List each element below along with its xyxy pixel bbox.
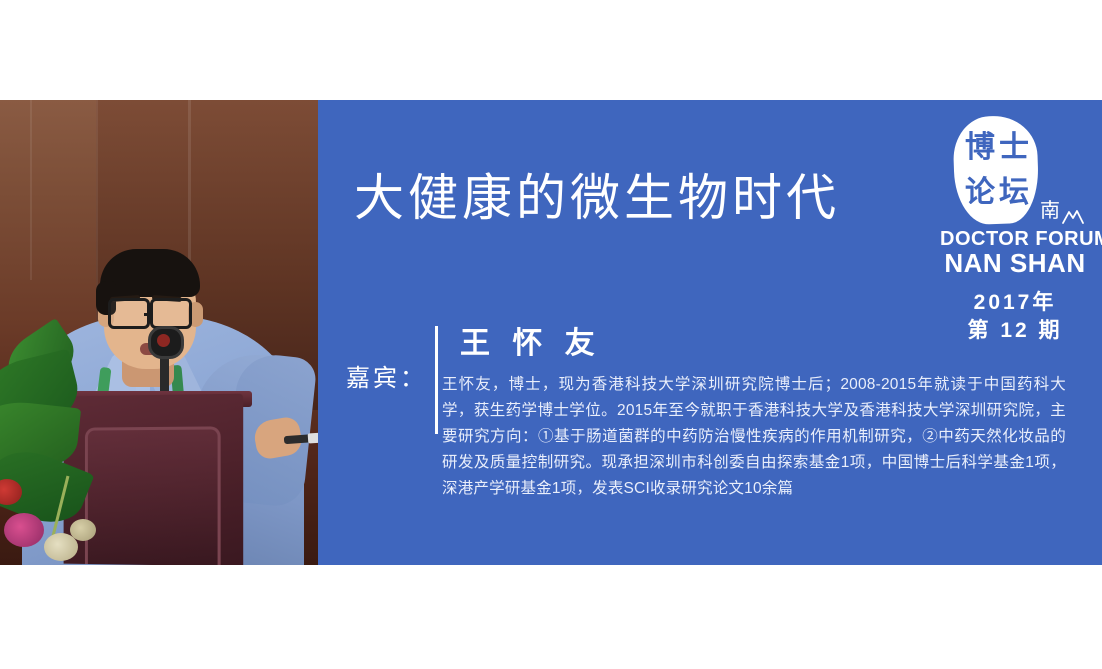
issue-year: 2017年	[940, 286, 1090, 316]
microphone-icon	[148, 326, 184, 359]
flower	[4, 513, 44, 547]
flower	[70, 519, 96, 541]
logo-char-bo: 博	[965, 133, 995, 163]
logo-char-lun: 论	[965, 178, 995, 208]
guest-bio: 王怀友，博士，现为香港科技大学深圳研究院博士后；2008-2015年就读于中国药…	[442, 372, 1066, 502]
mountain-icon	[1062, 207, 1084, 223]
photo-wall-seam-left	[30, 100, 32, 280]
guest-label: 嘉宾：	[346, 358, 427, 393]
logo-char-tan: 坛	[999, 178, 1029, 208]
laser-pointer-icon	[284, 434, 318, 444]
guest-name: 王 怀 友	[460, 318, 602, 362]
logo-text-nan-shan: NAN SHAN	[940, 248, 1090, 279]
logo-char-nan: 南	[1040, 194, 1060, 223]
speaker-glasses-bridge	[144, 313, 153, 316]
poster-banner: 大健康的微生物时代 嘉宾： 王 怀 友 王怀友，博士，现为香港科技大学深圳研究院…	[0, 100, 1102, 565]
logo-badge-shape: 博 士 论 坛	[952, 115, 1040, 226]
issue-number: 第 12 期	[940, 314, 1090, 344]
guest-divider	[435, 326, 438, 434]
page-title: 大健康的微生物时代	[354, 158, 840, 230]
info-panel: 大健康的微生物时代 嘉宾： 王 怀 友 王怀友，博士，现为香港科技大学深圳研究院…	[318, 100, 1102, 565]
logo-char-shi: 士	[999, 133, 1029, 163]
podium-panel	[85, 426, 221, 565]
logo-badge-characters: 博 士 论 坛	[963, 125, 1031, 216]
doctor-forum-logo: 博 士 论 坛 南 DOCTOR FORUM NAN SHAN 2017年 第 …	[940, 116, 1090, 341]
logo-nanshan-mark: 南	[1040, 194, 1084, 223]
speaker-glasses-right-lens	[150, 298, 192, 329]
speaker-photo	[0, 100, 318, 565]
